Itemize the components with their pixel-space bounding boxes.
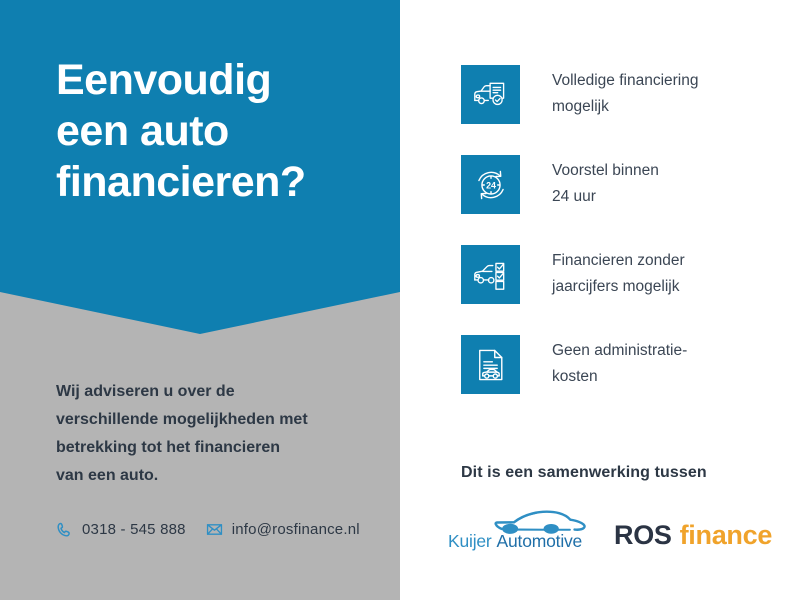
- feature-item: Volledige financiering mogelijk: [461, 65, 699, 124]
- right-panel: Volledige financiering mogelijk: [400, 0, 800, 600]
- contact-row: 0318 - 545 888 info@rosfinance.nl: [56, 521, 360, 538]
- feature-item: Geen administratie- kosten: [461, 335, 687, 394]
- kuijer-word: Kuijer: [448, 531, 492, 551]
- feature-icon-tile: [461, 335, 520, 394]
- svg-text:24: 24: [486, 180, 496, 190]
- van-document-check-icon: [473, 80, 509, 110]
- promo-poster: Eenvoudig een auto financieren? Wij advi…: [0, 0, 800, 600]
- ros-finance-wordmark: ROSfinance: [614, 520, 772, 551]
- partner-logos: KuijerAutomotive ROSfinance: [448, 505, 772, 553]
- feature-label: Voorstel binnen 24 uur: [552, 155, 659, 210]
- clock-24-hours-icon: 24: [474, 168, 508, 202]
- feature-icon-tile: [461, 65, 520, 124]
- automotive-word: Automotive: [497, 531, 583, 551]
- finance-word: finance: [680, 520, 772, 550]
- email-address: info@rosfinance.nl: [232, 521, 360, 538]
- contact-email[interactable]: info@rosfinance.nl: [206, 521, 360, 538]
- intro-paragraph: Wij adviseren u over de verschillende mo…: [56, 378, 376, 490]
- feature-label: Geen administratie- kosten: [552, 335, 687, 390]
- collaboration-title: Dit is een samenwerking tussen: [461, 464, 707, 482]
- kuijer-automotive-wordmark: KuijerAutomotive: [448, 531, 582, 552]
- page-title: Eenvoudig een auto financieren?: [56, 55, 386, 208]
- ros-word: ROS: [614, 520, 672, 550]
- feature-label: Financieren zonder jaarcijfers mogelijk: [552, 245, 685, 300]
- feature-icon-tile: 24: [461, 155, 520, 214]
- feature-icon-tile: [461, 245, 520, 304]
- kuijer-automotive-logo[interactable]: KuijerAutomotive: [448, 507, 588, 553]
- phone-icon: [56, 521, 73, 538]
- feature-item: 24 Voorstel binnen 24 uur: [461, 155, 659, 214]
- contact-phone[interactable]: 0318 - 545 888: [56, 521, 186, 538]
- car-checklist-icon: [473, 260, 509, 290]
- feature-item: Financieren zonder jaarcijfers mogelijk: [461, 245, 685, 304]
- feature-label: Volledige financiering mogelijk: [552, 65, 699, 120]
- ros-finance-logo[interactable]: ROSfinance: [614, 505, 772, 553]
- phone-number: 0318 - 545 888: [82, 521, 186, 538]
- envelope-icon: [206, 521, 223, 538]
- left-panel: Eenvoudig een auto financieren? Wij advi…: [0, 0, 400, 600]
- document-car-icon: [476, 348, 506, 382]
